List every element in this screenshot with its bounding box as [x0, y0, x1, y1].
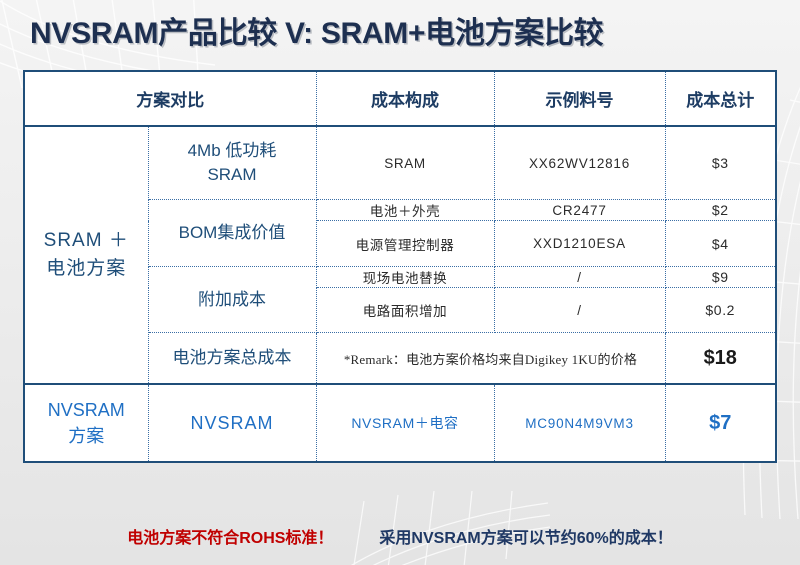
- subject-nvsram: NVSRAM: [148, 384, 316, 462]
- part-number-xxd1210esa: XXD1210ESA: [494, 221, 665, 267]
- total-cost-nvsram-solution: $7: [665, 384, 776, 462]
- subject-bom-integration-value: BOM集成价值: [148, 200, 316, 267]
- table-row: SRAM ＋ 电池方案 4Mb 低功耗 SRAM SRAM XX62WV1281…: [24, 126, 776, 200]
- title-bar: NVSRAM产品比较 V: SRAM+电池方案比较: [0, 12, 800, 62]
- page-title: NVSRAM产品比较 V: SRAM+电池方案比较: [0, 12, 800, 56]
- category-nvsram: NVSRAM 方案: [24, 384, 148, 462]
- component-power-management-controller: 电源管理控制器: [316, 221, 494, 267]
- category-sram-battery: SRAM ＋ 电池方案: [24, 126, 148, 384]
- part-number-field-battery-replacement: /: [494, 267, 665, 288]
- part-number-sram: XX62WV12816: [494, 126, 665, 200]
- table-body: SRAM ＋ 电池方案 4Mb 低功耗 SRAM SRAM XX62WV1281…: [24, 126, 776, 462]
- total-cost-battery-solution: $18: [665, 333, 776, 385]
- footnote-nvsram-savings: 采用NVSRAM方案可以节约60%的成本！: [379, 524, 672, 548]
- header-example-part-number: 示例料号: [494, 71, 665, 126]
- component-nvsram-capacitor: NVSRAM＋电容: [316, 384, 494, 462]
- subject-additional-cost: 附加成本: [148, 267, 316, 333]
- header-scheme-comparison: 方案对比: [24, 71, 316, 126]
- subject-4mb-low-power-sram: 4Mb 低功耗 SRAM: [148, 126, 316, 200]
- cost-sram: $3: [665, 126, 776, 200]
- cost-battery-housing: $2: [665, 200, 776, 221]
- component-field-battery-replacement: 现场电池替换: [316, 267, 494, 288]
- table-row: NVSRAM 方案 NVSRAM NVSRAM＋电容 MC90N4M9VM3 $…: [24, 384, 776, 462]
- component-board-area-increase: 电路面积增加: [316, 288, 494, 333]
- cost-field-battery-replacement: $9: [665, 267, 776, 288]
- footnote-rohs-warning: 电池方案不符合ROHS标准！: [127, 524, 333, 548]
- header-total-cost: 成本总计: [665, 71, 776, 126]
- part-number-board-area-increase: /: [494, 288, 665, 333]
- header-cost-composition: 成本构成: [316, 71, 494, 126]
- cost-comparison-table: 方案对比 成本构成 示例料号 成本总计 SRAM ＋ 电池方案 4Mb 低功耗 …: [23, 70, 777, 463]
- subject-battery-solution-total-cost: 电池方案总成本: [148, 333, 316, 385]
- table-header: 方案对比 成本构成 示例料号 成本总计: [24, 71, 776, 126]
- slide-canvas: NVSRAM产品比较 V: SRAM+电池方案比较 方案对比 成本构成 示例料号…: [0, 0, 800, 565]
- component-sram: SRAM: [316, 126, 494, 200]
- part-number-mc90n4m9vm3: MC90N4M9VM3: [494, 384, 665, 462]
- header-row: 方案对比 成本构成 示例料号 成本总计: [24, 71, 776, 126]
- component-battery-housing: 电池＋外壳: [316, 200, 494, 221]
- footnotes: 电池方案不符合ROHS标准！ 采用NVSRAM方案可以节约60%的成本！: [0, 524, 800, 548]
- part-number-cr2477: CR2477: [494, 200, 665, 221]
- cost-power-management-controller: $4: [665, 221, 776, 267]
- cost-board-area-increase: $0.2: [665, 288, 776, 333]
- remark-note: *Remark：电池方案价格均来自Digikey 1KU的价格: [316, 333, 665, 385]
